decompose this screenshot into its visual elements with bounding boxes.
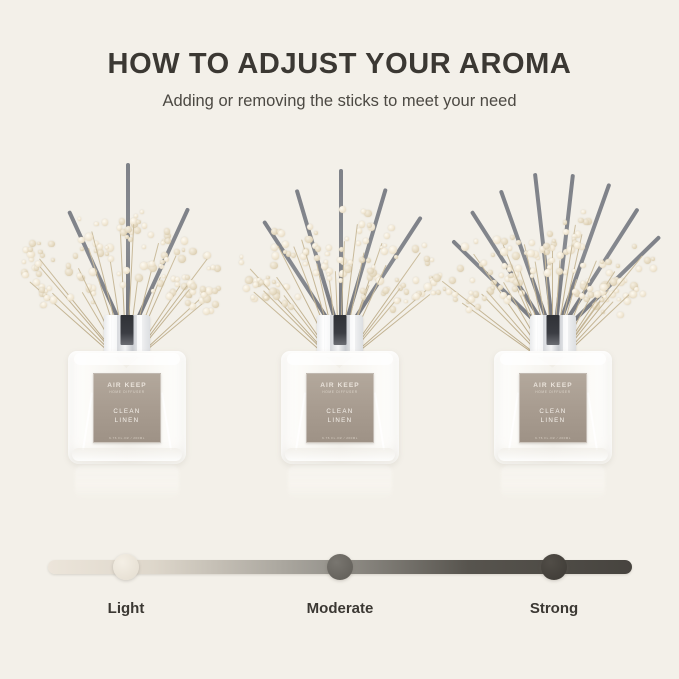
bottle-body: AIR KEEP HOME DIFFUSER CLEAN LINEN 6.76 … xyxy=(494,351,612,464)
dried-flower-bloom xyxy=(142,245,146,249)
dried-flower-bloom xyxy=(413,293,420,300)
dried-flower-bloom xyxy=(443,287,447,291)
label-brand-sub: HOME DIFFUSER xyxy=(520,390,586,394)
dried-flower-bloom xyxy=(28,247,33,252)
dried-flower-bloom xyxy=(39,287,45,293)
label-scent-line1: CLEAN xyxy=(94,407,160,416)
diffuser-bottle: AIR KEEP HOME DIFFUSER CLEAN LINEN 6.76 … xyxy=(494,315,612,495)
dried-flower-bloom xyxy=(80,247,84,251)
dried-flower-bloom xyxy=(617,312,623,318)
dried-flower-bloom xyxy=(572,269,576,273)
dried-flower-bloom xyxy=(326,245,332,251)
dried-flower-bloom xyxy=(148,232,154,238)
diffuser-group-strong: AIR KEEP HOME DIFFUSER CLEAN LINEN 6.76 … xyxy=(448,115,658,515)
dried-flower-bloom xyxy=(488,270,493,275)
dried-flower-bloom xyxy=(22,272,28,278)
dried-flower-bloom xyxy=(166,293,173,300)
dried-flower-bloom xyxy=(516,240,521,245)
dried-flower-bloom xyxy=(394,255,398,259)
dried-flower-bloom xyxy=(481,260,487,266)
dried-flower-bloom xyxy=(78,217,82,221)
dried-flower-bloom xyxy=(366,258,371,263)
dried-flower-bloom xyxy=(547,231,553,237)
dried-flower-bloom xyxy=(278,230,285,237)
dried-flower-bloom xyxy=(313,270,319,276)
slider-knob-moderate[interactable] xyxy=(327,554,353,580)
dried-flower-bloom xyxy=(240,255,243,258)
dried-flower-bloom xyxy=(27,251,34,258)
bottle-shoulder xyxy=(74,353,180,365)
dried-flower-bloom xyxy=(624,298,631,305)
dried-flower-bloom xyxy=(134,227,141,234)
dried-flower-bloom xyxy=(404,289,410,295)
dried-flower-bloom xyxy=(140,210,144,214)
dried-flower-bloom xyxy=(175,277,180,282)
dried-flower-bloom xyxy=(189,248,196,255)
bottle-mouth xyxy=(334,315,347,345)
diffuser-group-light: AIR KEEP HOME DIFFUSER CLEAN LINEN 6.76 … xyxy=(22,115,232,515)
dried-flower-bloom xyxy=(315,246,321,252)
dried-flower-bloom xyxy=(251,295,255,299)
dried-flower-bloom xyxy=(452,292,458,298)
dried-flower-bloom xyxy=(181,237,189,245)
dried-flower-bloom xyxy=(381,248,388,255)
label-brand-sub: HOME DIFFUSER xyxy=(307,390,373,394)
slider-knob-strong[interactable] xyxy=(541,554,567,580)
dried-flower-bloom xyxy=(430,258,434,262)
dried-flower-bloom xyxy=(325,252,329,256)
dried-flower-bloom xyxy=(632,244,637,249)
dried-flower-bloom xyxy=(356,241,361,246)
dried-flower-bloom xyxy=(404,300,407,303)
dried-flower-bloom xyxy=(466,307,472,313)
dried-flower-bloom xyxy=(105,252,109,256)
bottle-reflection xyxy=(288,465,392,499)
dried-flower-bloom xyxy=(482,296,487,301)
dried-flower-bloom xyxy=(214,265,221,272)
dried-flower-bloom xyxy=(563,229,569,235)
product-label: AIR KEEP HOME DIFFUSER CLEAN LINEN 6.76 … xyxy=(519,373,587,443)
glass-facet xyxy=(295,393,306,451)
dried-flower-bloom xyxy=(549,258,554,263)
dried-flower-bloom xyxy=(363,238,368,243)
dried-flower-bloom xyxy=(468,296,475,303)
dried-flower-bloom xyxy=(603,295,607,299)
dried-flower-bloom xyxy=(212,288,218,294)
dried-flower-bloom xyxy=(651,257,655,261)
dried-flower-bloom xyxy=(357,228,362,233)
dried-flower-bloom xyxy=(327,273,331,277)
label-brand: AIR KEEP xyxy=(520,382,586,389)
glass-facet xyxy=(508,393,519,451)
dried-flower-bloom xyxy=(498,285,503,290)
bottle-mouth xyxy=(121,315,134,345)
dried-flower-bloom xyxy=(51,258,55,262)
dried-flower-bloom xyxy=(574,242,581,249)
dried-flower-bloom xyxy=(474,239,478,243)
dried-flower-bloom xyxy=(401,283,406,288)
dried-flower-bloom xyxy=(610,278,618,286)
dried-flower-bloom xyxy=(245,277,253,285)
dried-flower-bloom xyxy=(272,252,280,260)
label-scent-line1: CLEAN xyxy=(307,407,373,416)
dried-flower-bloom xyxy=(422,243,427,248)
dried-flower-bloom xyxy=(212,301,219,308)
dried-flower-bloom xyxy=(556,268,564,276)
dried-flower-bloom xyxy=(136,220,141,225)
dried-flower-bloom xyxy=(307,224,313,230)
dried-flower-bloom xyxy=(367,223,372,228)
dried-flower-bloom xyxy=(85,233,93,241)
dried-flower-bloom xyxy=(461,243,469,251)
glass-facet xyxy=(161,393,172,451)
dried-flower-bloom xyxy=(117,272,121,276)
dried-flower-bloom xyxy=(446,289,452,295)
dried-flower-bloom xyxy=(105,246,108,249)
dried-flower-bloom xyxy=(270,262,278,270)
dried-flower-bloom xyxy=(324,260,328,264)
dried-flower-bloom xyxy=(73,253,78,258)
glass-facet xyxy=(374,393,385,451)
label-brand: AIR KEEP xyxy=(307,382,373,389)
dried-flower-bloom xyxy=(243,285,250,292)
dried-flower-bloom xyxy=(544,269,552,277)
label-scent-line2: LINEN xyxy=(520,416,586,425)
diffuser-group-moderate: AIR KEEP HOME DIFFUSER CLEAN LINEN 6.76 … xyxy=(235,115,445,515)
dried-flower-bloom xyxy=(41,302,47,308)
bottle-shoulder xyxy=(500,353,606,365)
slider-label-moderate: Moderate xyxy=(260,600,420,617)
dried-flower-bloom xyxy=(389,246,397,254)
dried-flower-bloom xyxy=(295,294,301,300)
label-volume: 6.76 FL.OZ / 200ML xyxy=(94,436,160,440)
dried-flower-bloom xyxy=(149,261,155,267)
dried-flower-bloom xyxy=(264,296,268,300)
dried-flower-bloom xyxy=(578,218,583,223)
dried-flower-bloom xyxy=(512,252,520,260)
dried-flower-bloom xyxy=(282,241,289,248)
dried-flower-bloom xyxy=(507,267,512,272)
dried-flower-bloom xyxy=(384,233,390,239)
dried-flower-bloom xyxy=(305,236,313,244)
dried-flower-bloom xyxy=(510,235,515,240)
dried-flower-bloom xyxy=(29,240,36,247)
dried-flower-bloom xyxy=(119,218,125,224)
bottle-base xyxy=(498,448,608,461)
dried-flower-bloom xyxy=(606,270,612,276)
dried-flower-bloom xyxy=(288,304,294,310)
dried-flower-bloom xyxy=(271,244,278,251)
dried-flower-bloom xyxy=(359,221,365,227)
dried-flower-bloom xyxy=(178,255,186,263)
dried-flower-bloom xyxy=(190,283,197,290)
dried-flower-bloom xyxy=(499,273,504,278)
dried-flower-bloom xyxy=(394,298,400,304)
dried-flower-bloom xyxy=(527,250,535,258)
label-scent-line2: LINEN xyxy=(307,416,373,425)
dried-flower-bloom xyxy=(48,241,54,247)
dried-flower-bloom xyxy=(211,265,216,270)
dried-flower-bloom xyxy=(636,266,642,272)
dried-flower-bloom xyxy=(38,250,42,254)
dried-flower-bloom xyxy=(600,260,604,264)
dried-flower-bloom xyxy=(493,236,501,244)
dried-flower-bloom xyxy=(529,240,535,246)
dried-flower-bloom xyxy=(97,244,103,250)
label-scent: CLEAN LINEN xyxy=(520,407,586,425)
dried-flower-bloom xyxy=(140,262,148,270)
dried-flower-bloom xyxy=(530,274,534,278)
dried-flower-bloom xyxy=(276,283,280,287)
dried-flower-bloom xyxy=(135,274,143,282)
dried-flower-bloom xyxy=(581,210,585,214)
dried-flower-bloom xyxy=(453,297,459,303)
bottle-body: AIR KEEP HOME DIFFUSER CLEAN LINEN 6.76 … xyxy=(281,351,399,464)
slider-label-light: Light xyxy=(46,600,206,617)
dried-flower-bloom xyxy=(44,295,49,300)
dried-flower-bloom xyxy=(123,267,130,274)
dried-flower-bloom xyxy=(142,223,147,228)
label-scent-line2: LINEN xyxy=(94,416,160,425)
product-label: AIR KEEP HOME DIFFUSER CLEAN LINEN 6.76 … xyxy=(93,373,161,443)
dried-flower-bloom xyxy=(345,237,349,241)
dried-flower-bloom xyxy=(303,249,309,255)
bottle-reflection xyxy=(501,465,605,499)
dried-flower-bloom xyxy=(182,248,186,252)
slider-knob-light[interactable] xyxy=(113,554,139,580)
dried-flower-bloom xyxy=(650,265,657,272)
label-scent-line1: CLEAN xyxy=(520,407,586,416)
label-volume: 6.76 FL.OZ / 200ML xyxy=(307,436,373,440)
page-subtitle: Adding or removing the sticks to meet yo… xyxy=(0,92,679,111)
dried-flower-bloom xyxy=(239,260,244,265)
label-scent: CLEAN LINEN xyxy=(94,407,160,425)
dried-flower-bloom xyxy=(475,304,481,310)
dried-flower-bloom xyxy=(37,242,41,246)
dried-flower-bloom xyxy=(616,264,620,268)
dried-flower-bloom xyxy=(164,257,169,262)
dried-flower-bloom xyxy=(563,220,568,225)
dried-flower-bloom xyxy=(491,253,495,257)
dried-flower-bloom xyxy=(203,308,210,315)
dried-flower-bloom xyxy=(165,238,171,244)
page-title: HOW TO ADJUST YOUR AROMA xyxy=(0,48,679,81)
glass-facet xyxy=(82,393,93,451)
dried-flower-bloom xyxy=(491,286,495,290)
dried-flower-bloom xyxy=(449,277,456,284)
dried-flower-bloom xyxy=(36,271,42,277)
dried-flower-bloom xyxy=(291,253,296,258)
dried-flower-bloom xyxy=(470,278,475,283)
dried-flower-bloom xyxy=(572,289,578,295)
dried-flower-bloom xyxy=(383,287,390,294)
diffuser-bottle: AIR KEEP HOME DIFFUSER CLEAN LINEN 6.76 … xyxy=(281,315,399,495)
dried-flower-bloom xyxy=(372,265,376,269)
dried-flower-bloom xyxy=(433,274,441,282)
glass-facet xyxy=(587,393,598,451)
dried-flower-bloom xyxy=(151,289,155,293)
dried-flower-bloom xyxy=(605,259,611,265)
dried-flower-bloom xyxy=(584,297,589,302)
dried-flower-bloom xyxy=(412,245,419,252)
dried-flower-bloom xyxy=(282,300,289,307)
bottle-shoulder xyxy=(287,353,393,365)
dried-flower-bloom xyxy=(102,219,108,225)
dried-flower-bloom xyxy=(314,255,321,262)
dried-flower-bloom xyxy=(580,263,585,268)
label-volume: 6.76 FL.OZ / 200ML xyxy=(520,436,586,440)
label-scent: CLEAN LINEN xyxy=(307,407,373,425)
dried-flower-bloom xyxy=(361,295,366,300)
dried-flower-bloom xyxy=(630,291,637,298)
product-label: AIR KEEP HOME DIFFUSER CLEAN LINEN 6.76 … xyxy=(306,373,374,443)
dried-flower-bloom xyxy=(175,282,179,286)
dried-flower-bloom xyxy=(283,250,287,254)
dried-flower-bloom xyxy=(383,244,387,248)
aroma-instruction-graphic: HOW TO ADJUST YOUR AROMA Adding or remov… xyxy=(0,0,679,679)
dried-flower-bloom xyxy=(640,291,646,297)
intensity-slider[interactable] xyxy=(48,560,632,574)
diffuser-bottle: AIR KEEP HOME DIFFUSER CLEAN LINEN 6.76 … xyxy=(68,315,186,495)
dried-flower-bloom xyxy=(515,265,523,273)
dried-flower-bloom xyxy=(388,225,395,232)
dried-flower-bloom xyxy=(120,282,126,288)
bottle-base xyxy=(72,448,182,461)
dried-flower-bloom xyxy=(530,268,536,274)
dried-flower-bloom xyxy=(266,276,270,280)
bottle-body: AIR KEEP HOME DIFFUSER CLEAN LINEN 6.76 … xyxy=(68,351,186,464)
dried-flower-bloom xyxy=(269,288,276,295)
dried-flower-bloom xyxy=(594,291,601,298)
dried-flower-bloom xyxy=(348,260,353,265)
dried-flower-bloom xyxy=(588,292,593,297)
dried-flower-bloom xyxy=(508,246,512,250)
dried-flower-bloom xyxy=(108,256,114,262)
dried-flower-bloom xyxy=(50,296,58,304)
dried-flower-bloom xyxy=(65,268,73,276)
dried-flower-bloom xyxy=(457,265,464,272)
dried-flower-bloom xyxy=(22,260,26,264)
bottle-reflection xyxy=(75,465,179,499)
bottle-mouth xyxy=(547,315,560,345)
dried-flower-bloom xyxy=(413,277,420,284)
dried-flower-bloom xyxy=(47,286,52,291)
dried-flower-bloom xyxy=(501,238,508,245)
dried-flower-bloom xyxy=(94,222,98,226)
dried-flower-bloom xyxy=(436,290,441,295)
dried-flower-bloom xyxy=(390,306,396,312)
dried-flower-bloom xyxy=(134,214,138,218)
dried-flower-bloom xyxy=(253,282,259,288)
label-brand-sub: HOME DIFFUSER xyxy=(94,390,160,394)
bottle-base xyxy=(285,448,395,461)
dried-flower-bloom xyxy=(204,252,211,259)
dried-flower-bloom xyxy=(339,206,346,213)
slider-label-strong: Strong xyxy=(474,600,634,617)
dried-flower-bloom xyxy=(314,231,318,235)
dried-flower-bloom xyxy=(644,257,651,264)
dried-flower-bloom xyxy=(500,248,508,256)
dried-flower-bloom xyxy=(161,241,165,245)
dried-flower-bloom xyxy=(125,226,132,233)
dried-flower-bloom xyxy=(174,249,179,254)
label-brand: AIR KEEP xyxy=(94,382,160,389)
dried-flower-bloom xyxy=(303,262,307,266)
